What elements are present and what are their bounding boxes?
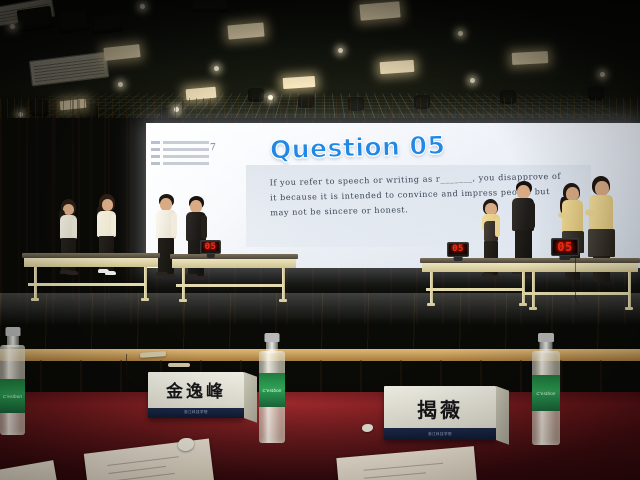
paper-line xyxy=(107,456,179,466)
skirt xyxy=(588,229,615,257)
arm xyxy=(529,202,535,229)
paper-line xyxy=(108,466,166,474)
timer-stand xyxy=(559,256,570,260)
paper-line xyxy=(363,463,443,471)
head xyxy=(517,185,530,199)
outline-value xyxy=(163,162,209,165)
bottle-cap xyxy=(538,333,554,342)
list-item xyxy=(151,155,209,158)
desk-foot xyxy=(279,299,287,302)
timer-digits: 05 xyxy=(205,242,217,251)
slide-title: Question 05 xyxy=(270,131,446,165)
head xyxy=(566,187,579,201)
placard-side xyxy=(496,386,509,445)
timer-display: 05 xyxy=(202,242,219,251)
desk-foot xyxy=(141,298,149,301)
desk-apron xyxy=(172,259,296,268)
timer-display: 05 xyxy=(553,240,577,253)
desk-leg xyxy=(628,272,631,308)
list-item xyxy=(151,162,209,165)
water-bottle-right[interactable]: C'estbon xyxy=(532,333,560,445)
timer-stand xyxy=(206,254,214,258)
paper-line xyxy=(109,473,175,480)
bottle-brand: C'estbon xyxy=(262,388,281,393)
desk-rail xyxy=(176,284,284,287)
desk-foot xyxy=(31,298,39,301)
head xyxy=(595,181,609,196)
auditorium-scene: 7 Question 05 If you refer to speech or … xyxy=(0,0,640,480)
outline-key xyxy=(151,162,160,165)
placard-org-logo: 浙江科技学院 xyxy=(184,410,208,415)
placard-org-logo: 浙江科技学院 xyxy=(428,432,452,437)
outline-key xyxy=(151,155,160,158)
paper-line xyxy=(364,472,426,478)
bottle-brand: C'estbon xyxy=(536,391,555,396)
bottle-label: C'estbon xyxy=(0,379,25,413)
desk-leg xyxy=(532,272,535,308)
desk-apron xyxy=(24,258,158,267)
placard-name: 揭薇 xyxy=(417,400,463,420)
name-placard-left: 金逸峰 浙江科技学院 xyxy=(148,372,244,418)
name-placard-right: 揭薇 浙江科技学院 xyxy=(384,386,496,440)
slide-number: 7 xyxy=(210,143,216,153)
timer-center[interactable]: 05 xyxy=(447,242,469,257)
arm xyxy=(495,217,500,237)
outline-value xyxy=(163,141,209,144)
outline-key xyxy=(151,141,160,144)
placard-side xyxy=(244,372,257,423)
desk-rail xyxy=(426,288,524,291)
timer-right[interactable]: 05 xyxy=(551,238,579,256)
timer-stand xyxy=(454,257,463,261)
head xyxy=(102,199,113,211)
water-bottle-left[interactable]: C'estbon xyxy=(0,327,25,435)
arm xyxy=(111,214,116,235)
timer-digits: 05 xyxy=(452,244,464,254)
contestant-desk-left xyxy=(22,253,160,301)
timer-display: 05 xyxy=(449,244,467,254)
desk-foot xyxy=(427,303,435,306)
bottle-brand: C'estbon xyxy=(3,394,22,399)
placard-base: 浙江科技学院 xyxy=(384,428,496,440)
list-item xyxy=(151,141,209,144)
desk-foot xyxy=(625,307,633,310)
timer-left[interactable]: 05 xyxy=(200,240,221,254)
arm xyxy=(201,215,207,239)
timer-digits: 05 xyxy=(557,240,572,253)
bottle-cap xyxy=(5,327,20,336)
outline-value xyxy=(163,155,209,158)
placard-base: 浙江科技学院 xyxy=(148,408,244,418)
outline-value xyxy=(163,148,209,151)
bottle-label: C'estbon xyxy=(259,373,285,407)
list-item xyxy=(151,148,209,151)
bottle-cap xyxy=(265,333,280,342)
slide-outline-panel xyxy=(151,141,209,169)
bottle-label: C'estbon xyxy=(532,375,560,411)
arm xyxy=(171,213,177,237)
stage-microphone[interactable] xyxy=(168,363,190,367)
timer-cable xyxy=(575,256,585,306)
arm xyxy=(72,218,77,238)
desk-foot xyxy=(179,299,187,302)
contestant-desk-center-left xyxy=(170,254,298,302)
water-bottle-center[interactable]: C'estbon xyxy=(259,333,285,443)
desk-rail xyxy=(28,283,146,286)
desk-foot xyxy=(529,307,537,310)
placard-name: 金逸峰 xyxy=(166,384,226,401)
outline-key xyxy=(151,148,160,151)
microphone-cable xyxy=(126,354,134,380)
